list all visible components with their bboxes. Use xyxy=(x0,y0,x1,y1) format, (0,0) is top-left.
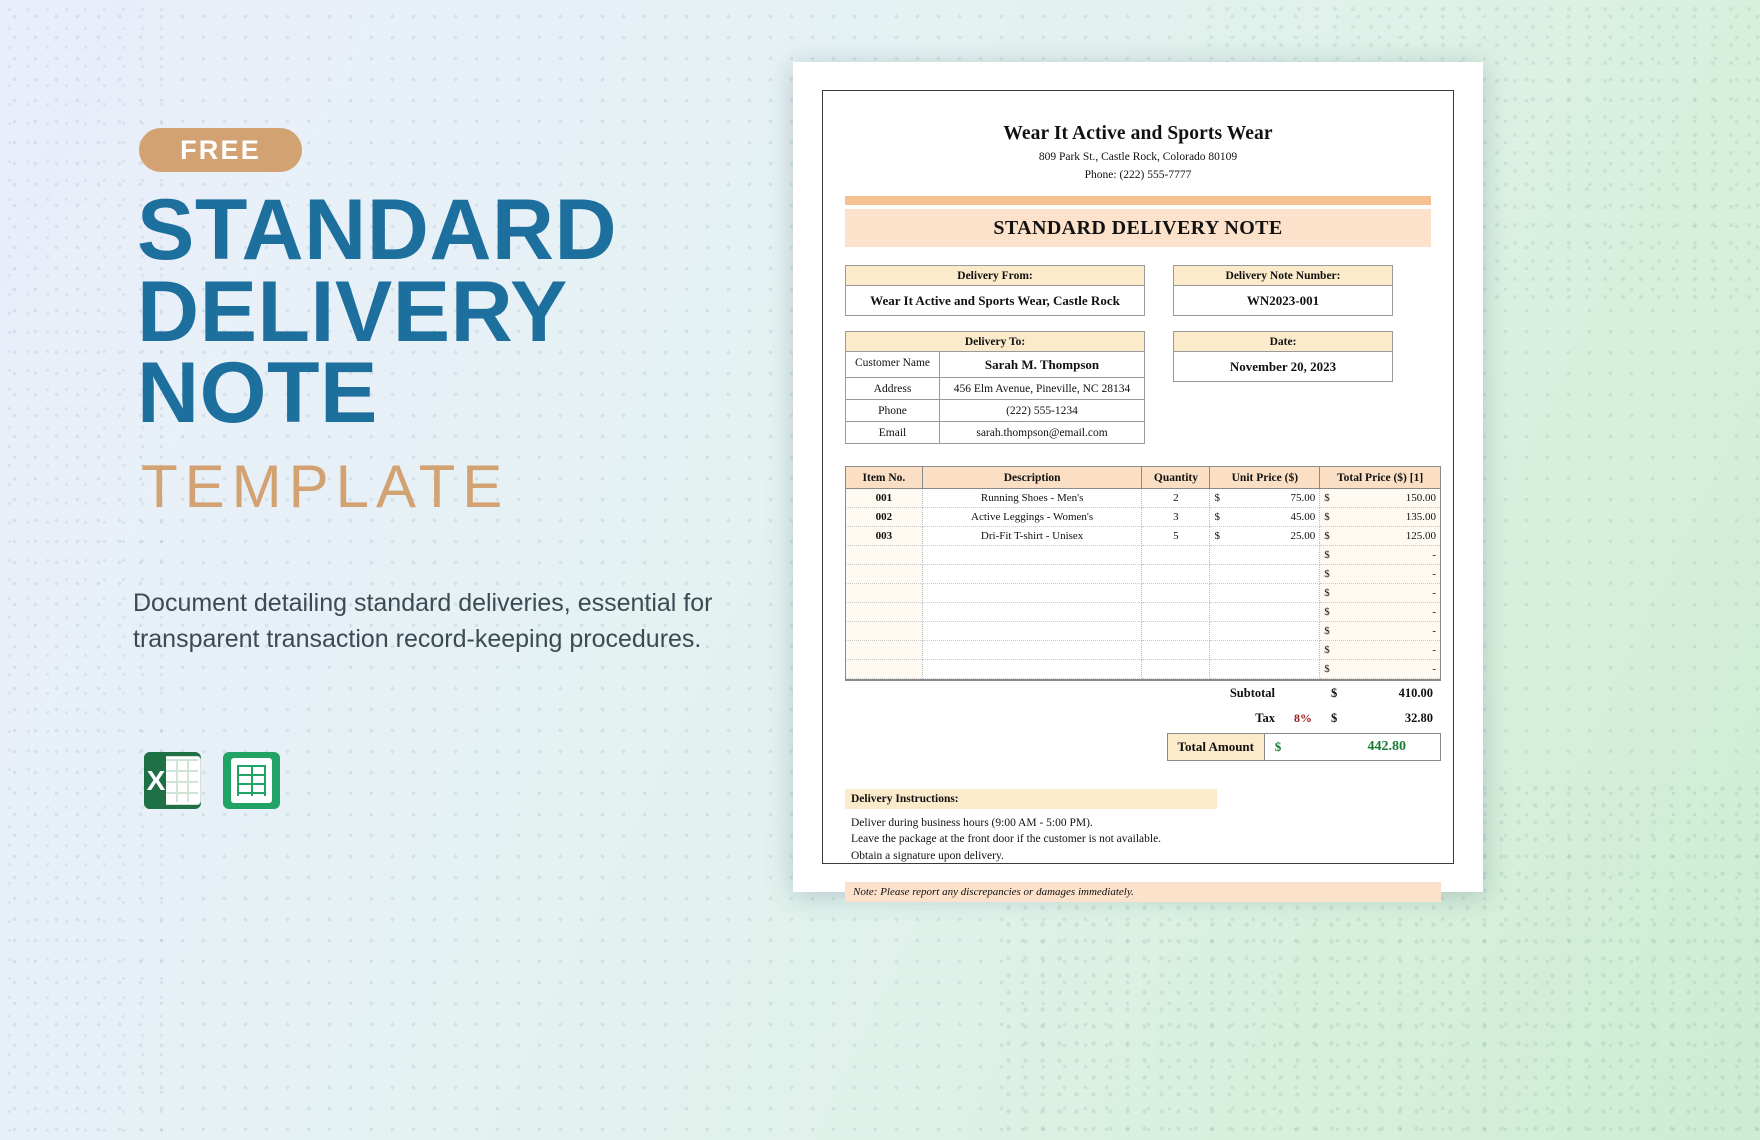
table-row[interactable]: $- xyxy=(846,603,1441,622)
delivery-to-label: Delivery To: xyxy=(845,331,1145,352)
cell-item-no[interactable] xyxy=(846,622,923,641)
email-value[interactable]: sarah.thompson@email.com xyxy=(940,422,1145,444)
header-item-no: Item No. xyxy=(846,467,923,489)
cell-description[interactable]: Active Leggings - Women's xyxy=(922,508,1142,527)
cell-total-price[interactable]: $- xyxy=(1320,641,1441,660)
promo-title: STANDARD DELIVERY NOTE TEMPLATE xyxy=(137,190,777,517)
cell-quantity[interactable] xyxy=(1142,641,1210,660)
cell-unit-price[interactable] xyxy=(1210,603,1320,622)
cell-description[interactable] xyxy=(922,660,1142,679)
table-row[interactable]: $- xyxy=(846,546,1441,565)
header-quantity: Quantity xyxy=(1142,467,1210,489)
email-key: Email xyxy=(845,422,940,444)
tax-rate[interactable]: 8% xyxy=(1275,711,1331,726)
instruction-line-2: Leave the package at the front door if t… xyxy=(845,831,1431,847)
delivery-from-label: Delivery From: xyxy=(845,265,1145,286)
delivery-to-row-address: Address 456 Elm Avenue, Pineville, NC 28… xyxy=(845,378,1145,400)
instruction-line-3: Obtain a signature upon delivery. xyxy=(845,848,1431,864)
date-label: Date: xyxy=(1173,331,1393,352)
items-table: Item No. Description Quantity Unit Price… xyxy=(845,466,1441,679)
header-unit-price: Unit Price ($) xyxy=(1210,467,1320,489)
promo-description: Document detailing standard deliveries, … xyxy=(133,585,733,657)
excel-icon[interactable]: X xyxy=(144,752,201,809)
delivery-to-row-customer-name: Customer Name Sarah M. Thompson xyxy=(845,352,1145,378)
subtotal-value: 410.00 xyxy=(1353,686,1441,701)
cell-description[interactable]: Dri-Fit T-shirt - Unisex xyxy=(922,527,1142,546)
table-row[interactable]: $- xyxy=(846,622,1441,641)
subtotal-row: Subtotal $ 410.00 xyxy=(845,681,1441,706)
total-amount-currency: $ xyxy=(1265,739,1291,755)
cell-item-no[interactable]: 001 xyxy=(846,489,923,508)
delivery-instructions-list: Deliver during business hours (9:00 AM -… xyxy=(841,815,1435,864)
accent-bar xyxy=(845,196,1431,205)
cell-quantity[interactable] xyxy=(1142,622,1210,641)
cell-item-no[interactable] xyxy=(846,641,923,660)
cell-quantity[interactable]: 3 xyxy=(1142,508,1210,527)
cell-item-no[interactable] xyxy=(846,584,923,603)
cell-item-no[interactable]: 002 xyxy=(846,508,923,527)
cell-description[interactable]: Running Shoes - Men's xyxy=(922,489,1142,508)
header-total-price: Total Price ($) [1] xyxy=(1320,467,1441,489)
delivery-to-row-phone: Phone (222) 555-1234 xyxy=(845,400,1145,422)
cell-description[interactable] xyxy=(922,565,1142,584)
company-address: 809 Park St., Castle Rock, Colorado 8010… xyxy=(841,151,1435,163)
total-amount-label: Total Amount xyxy=(1167,733,1265,761)
cell-unit-price[interactable] xyxy=(1210,546,1320,565)
cell-unit-price[interactable] xyxy=(1210,584,1320,603)
cell-quantity[interactable]: 2 xyxy=(1142,489,1210,508)
subtotal-currency: $ xyxy=(1331,686,1353,701)
google-sheets-icon[interactable] xyxy=(223,752,280,809)
cell-description[interactable] xyxy=(922,603,1142,622)
info-section: Delivery From: Wear It Active and Sports… xyxy=(845,265,1431,444)
table-row[interactable]: 002Active Leggings - Women's3$45.00$135.… xyxy=(846,508,1441,527)
delivery-instructions-heading: Delivery Instructions: xyxy=(845,789,1217,809)
tax-value: 32.80 xyxy=(1353,711,1441,726)
header-description: Description xyxy=(922,467,1142,489)
info-column-left: Delivery From: Wear It Active and Sports… xyxy=(845,265,1145,444)
cell-item-no[interactable] xyxy=(846,546,923,565)
delivery-from-value[interactable]: Wear It Active and Sports Wear, Castle R… xyxy=(845,286,1145,316)
info-column-right: Delivery Note Number: WN2023-001 Date: N… xyxy=(1173,265,1393,444)
cell-total-price[interactable]: $135.00 xyxy=(1320,508,1441,527)
subtotal-label: Subtotal xyxy=(1230,686,1275,701)
company-name: Wear It Active and Sports Wear xyxy=(841,123,1435,145)
total-amount-box: $ 442.80 xyxy=(1265,733,1441,761)
phone-key: Phone xyxy=(845,400,940,422)
cell-total-price[interactable]: $150.00 xyxy=(1320,489,1441,508)
cell-item-no[interactable]: 003 xyxy=(846,527,923,546)
items-table-body: 001Running Shoes - Men's2$75.00$150.0000… xyxy=(846,489,1441,679)
instruction-line-1: Deliver during business hours (9:00 AM -… xyxy=(845,815,1431,831)
cell-total-price[interactable]: $- xyxy=(1320,622,1441,641)
cell-unit-price[interactable]: $45.00 xyxy=(1210,508,1320,527)
cell-quantity[interactable] xyxy=(1142,660,1210,679)
total-amount-row: Total Amount $ 442.80 xyxy=(845,733,1441,761)
table-row[interactable]: $- xyxy=(846,641,1441,660)
delivery-note-number-value[interactable]: WN2023-001 xyxy=(1173,286,1393,316)
customer-name-key: Customer Name xyxy=(845,352,940,378)
promo-panel: FREE STANDARD DELIVERY NOTE TEMPLATE Doc… xyxy=(0,0,800,1140)
cell-quantity[interactable]: 5 xyxy=(1142,527,1210,546)
document-note: Note: Please report any discrepancies or… xyxy=(845,882,1441,902)
cell-unit-price[interactable]: $25.00 xyxy=(1210,527,1320,546)
cell-description[interactable] xyxy=(922,546,1142,565)
cell-description[interactable] xyxy=(922,622,1142,641)
table-row[interactable]: 003Dri-Fit T-shirt - Unisex5$25.00$125.0… xyxy=(846,527,1441,546)
cell-total-price[interactable]: $- xyxy=(1320,565,1441,584)
total-amount-value: 442.80 xyxy=(1291,739,1440,755)
cell-quantity[interactable] xyxy=(1142,546,1210,565)
cell-quantity[interactable] xyxy=(1142,603,1210,622)
address-value[interactable]: 456 Elm Avenue, Pineville, NC 28134 xyxy=(940,378,1145,400)
table-row[interactable]: $- xyxy=(846,584,1441,603)
document-page: Wear It Active and Sports Wear 809 Park … xyxy=(822,90,1454,864)
cell-item-no[interactable] xyxy=(846,565,923,584)
table-row[interactable]: $- xyxy=(846,660,1441,679)
promo-title-line-1: STANDARD xyxy=(137,190,777,272)
free-badge: FREE xyxy=(139,128,302,172)
cell-item-no[interactable] xyxy=(846,603,923,622)
delivery-to-row-email: Email sarah.thompson@email.com xyxy=(845,422,1145,444)
totals-section: Subtotal $ 410.00 Tax 8% $ 32.80 Total A… xyxy=(845,679,1441,761)
cell-total-price[interactable]: $125.00 xyxy=(1320,527,1441,546)
phone-value[interactable]: (222) 555-1234 xyxy=(940,400,1145,422)
cell-description[interactable] xyxy=(922,584,1142,603)
cell-total-price[interactable]: $- xyxy=(1320,660,1441,679)
address-key: Address xyxy=(845,378,940,400)
file-format-icons: X xyxy=(144,752,280,809)
cell-total-price[interactable]: $- xyxy=(1320,584,1441,603)
cell-item-no[interactable] xyxy=(846,660,923,679)
tax-row: Tax 8% $ 32.80 xyxy=(845,706,1441,731)
promo-subtitle: TEMPLATE xyxy=(137,457,777,517)
document-title: STANDARD DELIVERY NOTE xyxy=(845,209,1431,247)
tax-currency: $ xyxy=(1331,711,1353,726)
cell-quantity[interactable] xyxy=(1142,584,1210,603)
tax-label: Tax xyxy=(1255,711,1275,726)
cell-unit-price[interactable] xyxy=(1210,565,1320,584)
cell-unit-price[interactable] xyxy=(1210,641,1320,660)
company-phone: Phone: (222) 555-7777 xyxy=(841,169,1435,181)
cell-description[interactable] xyxy=(922,641,1142,660)
cell-unit-price[interactable]: $75.00 xyxy=(1210,489,1320,508)
cell-total-price[interactable]: $- xyxy=(1320,603,1441,622)
document-preview-card[interactable]: Wear It Active and Sports Wear 809 Park … xyxy=(793,62,1483,892)
cell-total-price[interactable]: $- xyxy=(1320,546,1441,565)
items-table-header-row: Item No. Description Quantity Unit Price… xyxy=(846,467,1441,489)
delivery-note-number-label: Delivery Note Number: xyxy=(1173,265,1393,286)
cell-unit-price[interactable] xyxy=(1210,660,1320,679)
table-row[interactable]: 001Running Shoes - Men's2$75.00$150.00 xyxy=(846,489,1441,508)
date-value[interactable]: November 20, 2023 xyxy=(1173,352,1393,382)
cell-quantity[interactable] xyxy=(1142,565,1210,584)
customer-name-value[interactable]: Sarah M. Thompson xyxy=(940,352,1145,378)
table-row[interactable]: $- xyxy=(846,565,1441,584)
promo-title-line-2: DELIVERY xyxy=(137,272,777,354)
promo-title-line-3: NOTE xyxy=(137,353,777,435)
cell-unit-price[interactable] xyxy=(1210,622,1320,641)
